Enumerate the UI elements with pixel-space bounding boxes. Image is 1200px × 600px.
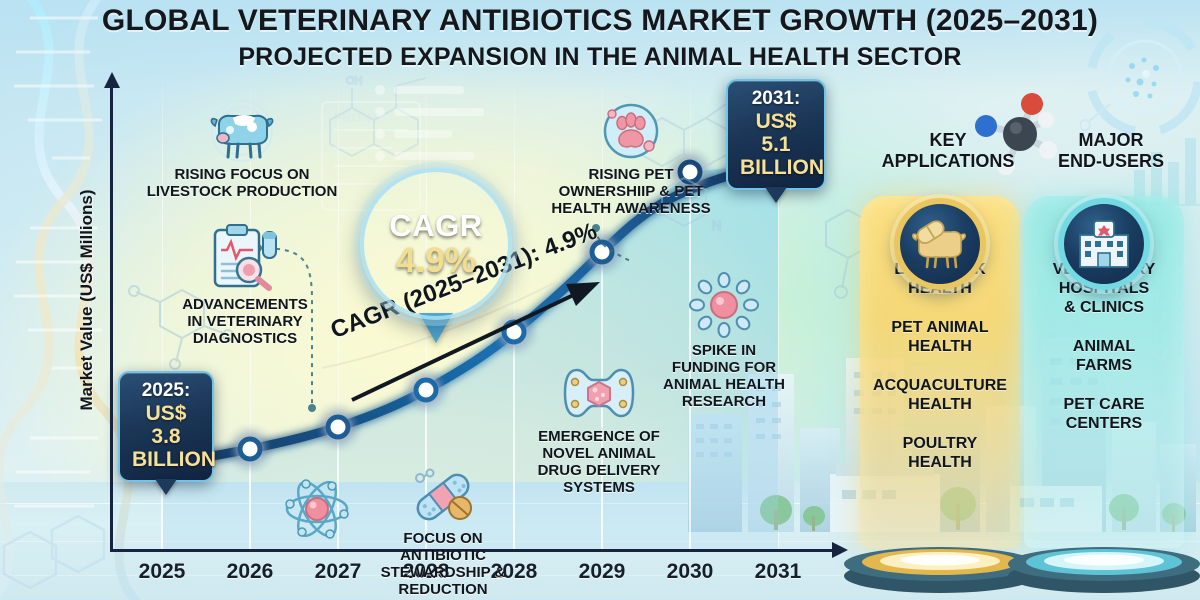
bandage-pill-icon (408, 468, 478, 526)
callout-value: US$ 5.1 (740, 110, 812, 156)
clipboard-magnifier-icon (205, 222, 285, 292)
callout-unit: BILLION (132, 448, 200, 471)
cagr-value: 4.9% (396, 242, 476, 279)
svg-text:N: N (712, 218, 721, 233)
start-value-callout[interactable]: 2025: US$ 3.8 BILLION (118, 371, 214, 482)
pillar-item: ACQUACULTURE HEALTH (865, 376, 1015, 414)
callout-tail (155, 479, 177, 495)
paw-cell-icon (600, 100, 662, 162)
annotation-funding-spike[interactable]: SPIKE IN FUNDING FOR ANIMAL HEALTH RESEA… (644, 272, 804, 410)
callout-unit: BILLION (740, 156, 812, 179)
column-heading-key-applications: KEY APPLICATIONS (858, 130, 1038, 172)
header: GLOBAL VETERINARY ANTIBIOTICS MARKET GRO… (0, 4, 1200, 72)
annotation-text: EMERGENCE OF NOVEL ANIMAL DRUG DELIVERY … (524, 428, 674, 496)
callout-year: 2025: (132, 380, 200, 402)
annotation-antibiotic-stewardship[interactable]: FOCUS ON ANTIBIOTIC STEWARDSHIP & REDUCT… (348, 468, 538, 598)
cow-capsule-icon (909, 218, 971, 270)
badge-key-applications (894, 198, 986, 290)
cagr-badge-circle: CAGR 4.9% (360, 168, 512, 320)
x-tick-label: 2029 (567, 560, 637, 584)
column-heading-text: KEY APPLICATIONS (882, 130, 1015, 171)
callout-value: US$ 3.8 (132, 402, 200, 448)
annotation-text: SPIKE IN FUNDING FOR ANIMAL HEALTH RESEA… (644, 342, 804, 410)
x-tick-label: 2025 (127, 560, 197, 584)
svg-text:OH: OH (346, 75, 363, 87)
annotation-text: RISING PET OWNERSHIIP & PET HEALTH AWARE… (540, 166, 722, 217)
pillar-item: ANIMAL FARMS (1065, 337, 1143, 375)
x-tick-label: 2031 (743, 560, 813, 584)
callout-year: 2031: (740, 88, 812, 110)
cow-icon (205, 100, 279, 162)
callout-tail (765, 187, 787, 203)
annotation-veterinary-diagnostics[interactable]: ADVANCEMENTS IN VETERINARY DIAGNOSTICS (152, 222, 338, 347)
atom-icon (284, 476, 350, 542)
badge-major-end-users (1058, 198, 1150, 290)
cagr-badge[interactable]: CAGR 4.9% (360, 168, 512, 320)
y-axis (110, 86, 113, 552)
pillar-item: POULTRY HEALTH (895, 434, 986, 472)
y-axis-label: Market Value (US$ Millions) (77, 175, 97, 425)
capsule-molecule-icon (563, 362, 635, 424)
page-title: GLOBAL VETERINARY ANTIBIOTICS MARKET GRO… (0, 4, 1200, 38)
annotation-text: RISING FOCUS ON LIVESTOCK PRODUCTION (132, 166, 352, 200)
annotation-pet-ownership[interactable]: RISING PET OWNERSHIIP & PET HEALTH AWARE… (540, 100, 722, 217)
annotation-text: FOCUS ON ANTIBIOTIC STEWARDSHIP & REDUCT… (348, 530, 538, 598)
annotation-livestock-production[interactable]: RISING FOCUS ON LIVESTOCK PRODUCTION (132, 100, 352, 200)
end-value-callout[interactable]: 2031: US$ 5.1 BILLION (726, 79, 826, 190)
page-subtitle: PROJECTED EXPANSION IN THE ANIMAL HEALTH… (0, 42, 1200, 72)
x-tick-label: 2026 (215, 560, 285, 584)
column-heading-text: MAJOR END-USERS (1058, 130, 1164, 171)
pillar-item: PET ANIMAL HEALTH (883, 318, 996, 356)
y-axis-arrow (104, 72, 120, 88)
cagr-label: CAGR (389, 209, 482, 242)
infographic-canvas: OH N N FRONT (0, 0, 1200, 600)
annotation-text: ADVANCEMENTS IN VETERINARY DIAGNOSTICS (152, 296, 338, 347)
cell-receptor-icon (688, 272, 760, 338)
column-heading-major-end-users: MAJOR END-USERS (1026, 130, 1196, 172)
pillar-item: PET CARE CENTERS (1056, 395, 1153, 433)
hospital-icon (1074, 217, 1134, 271)
x-tick-label: 2030 (655, 560, 725, 584)
pillar-base-major-end-users (1006, 536, 1200, 594)
